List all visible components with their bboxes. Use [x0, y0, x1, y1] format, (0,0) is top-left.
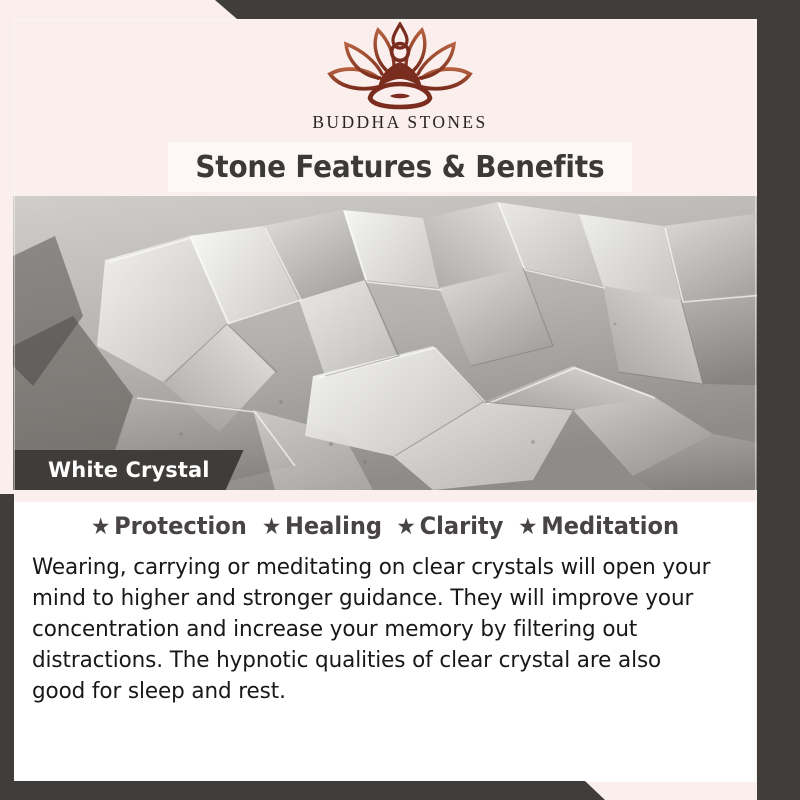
poster-root: BUDDHA STONES Stone Features & Benefits [0, 0, 800, 800]
brand-name: BUDDHA STONES [0, 112, 800, 133]
benefit-item-protection: ★Protection [91, 512, 247, 540]
frame-accent-left [0, 494, 14, 782]
benefit-label: Meditation [541, 512, 679, 540]
benefit-item-healing: ★Healing [262, 512, 382, 540]
benefit-label: Clarity [419, 512, 503, 540]
brand-logo: BUDDHA STONES [0, 22, 800, 133]
description-paragraph: Wearing, carrying or meditating on clear… [32, 552, 716, 707]
benefit-label: Protection [114, 512, 247, 540]
benefit-label: Healing [285, 512, 382, 540]
photo-caption-text: White Crystal [48, 458, 210, 482]
lotus-meditation-figure-icon [310, 22, 490, 110]
benefit-item-clarity: ★Clarity [396, 512, 503, 540]
star-icon: ★ [396, 514, 415, 540]
star-icon: ★ [91, 514, 110, 540]
title-plate: Stone Features & Benefits [168, 142, 632, 192]
star-icon: ★ [518, 514, 537, 540]
star-icon: ★ [262, 514, 281, 540]
benefit-item-meditation: ★Meditation [518, 512, 679, 540]
content-top-strip [14, 490, 756, 502]
frame-accent-right [757, 19, 800, 800]
photo-artwork [13, 196, 783, 490]
benefits-row: ★Protection ★Healing ★Clarity ★Meditatio… [14, 512, 756, 540]
content-panel: ★Protection ★Healing ★Clarity ★Meditatio… [14, 490, 756, 782]
photo-caption-badge: White Crystal [14, 450, 244, 490]
page-title: Stone Features & Benefits [196, 150, 605, 185]
white-crystal-cluster-photo [13, 196, 783, 490]
frame-accent-bottom [0, 781, 800, 800]
